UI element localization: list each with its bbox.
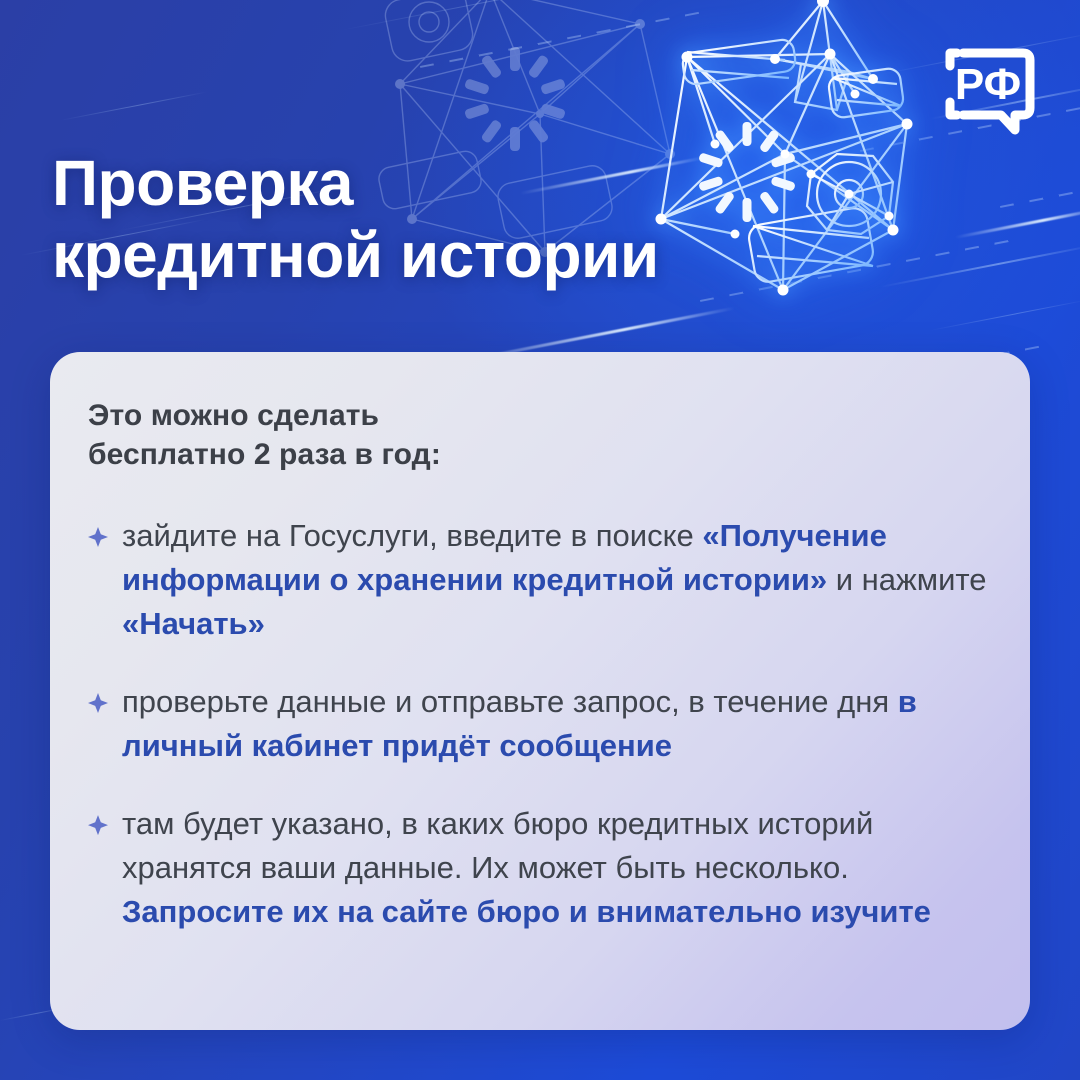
list-item: проверьте данные и отправьте запрос, в т… xyxy=(88,680,990,768)
page-title: Проверка кредитной истории xyxy=(52,148,659,291)
emphasis-text: «Начать» xyxy=(122,606,265,641)
plain-text: проверьте данные и отправьте запрос, в т… xyxy=(122,684,898,719)
diamond-bullet-icon xyxy=(88,815,108,835)
plain-text: и нажмите xyxy=(827,562,986,597)
infographic-poster: РФ Проверка кредитной истории Это можно … xyxy=(0,0,1080,1080)
card-heading: Это можно сделать бесплатно 2 раза в год… xyxy=(88,396,990,474)
diamond-bullet-icon xyxy=(88,527,108,547)
list-item: там будет указано, в каких бюро кредитны… xyxy=(88,802,990,934)
plain-text: зайдите на Госуслуги, введите в поиске xyxy=(122,518,702,553)
list-item-text: там будет указано, в каких бюро кредитны… xyxy=(122,802,990,934)
gosuslugi-rf-logo: РФ xyxy=(935,30,1045,140)
emphasis-text: Запросите их на сайте бюро и внимательно… xyxy=(122,894,931,929)
plain-text: там будет указано, в каких бюро кредитны… xyxy=(122,806,873,885)
list-item: зайдите на Госуслуги, введите в поиске «… xyxy=(88,514,990,646)
list-item-text: зайдите на Госуслуги, введите в поиске «… xyxy=(122,514,990,646)
logo-text: РФ xyxy=(955,60,1021,109)
bullet-list: зайдите на Госуслуги, введите в поиске «… xyxy=(88,514,990,934)
diamond-bullet-icon xyxy=(88,693,108,713)
content-card: Это можно сделать бесплатно 2 раза в год… xyxy=(50,352,1030,1030)
list-item-text: проверьте данные и отправьте запрос, в т… xyxy=(122,680,990,768)
wireframe-briefcase-graphic xyxy=(625,0,955,304)
